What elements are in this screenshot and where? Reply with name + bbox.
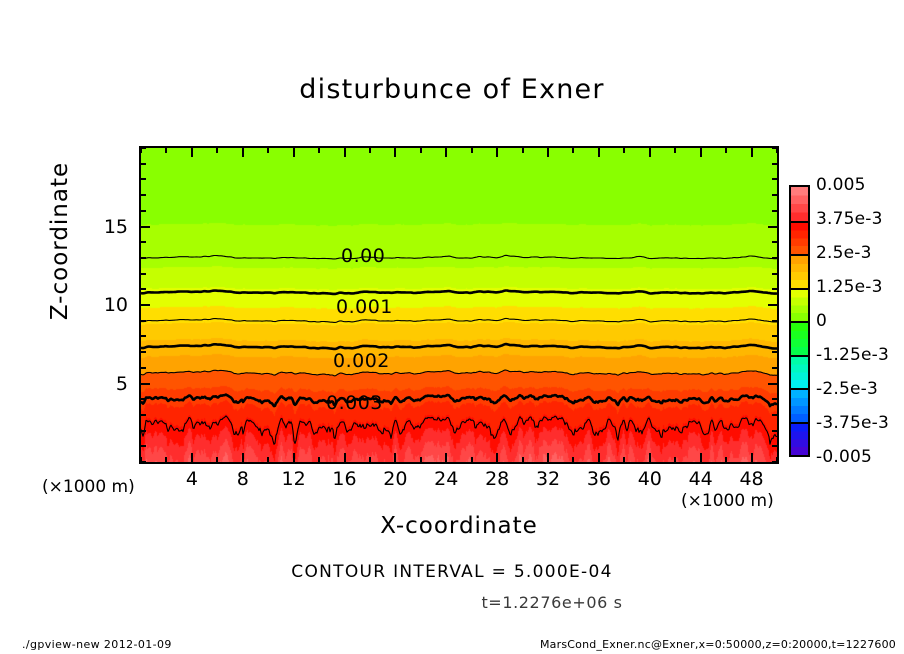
axis-tick (772, 398, 777, 400)
colorbar-tick-label: -1.25e-3 (816, 345, 889, 365)
axis-tick (522, 457, 524, 462)
axis-tick (700, 453, 702, 462)
axis-tick (216, 457, 218, 462)
axis-tick (772, 335, 777, 337)
contour-interval-note: CONTOUR INTERVAL = 5.000E-04 (0, 562, 904, 582)
plot-canvas: disturbunce of Exner 4812162024283236404… (0, 0, 904, 654)
axis-tick (772, 147, 777, 149)
axis-tick (141, 383, 150, 385)
axis-tick (369, 148, 371, 153)
axis-tick (267, 457, 269, 462)
axis-tick (768, 383, 777, 385)
colorbar-band (791, 321, 808, 355)
axis-tick (141, 320, 146, 322)
axis-tick (700, 148, 702, 157)
plot-area (139, 146, 779, 464)
axis-tick (141, 414, 146, 416)
y-tick-label: 10 (88, 294, 128, 316)
x-tick-label: 24 (421, 468, 471, 490)
axis-tick (547, 453, 549, 462)
axis-tick (141, 241, 146, 243)
colorbar-band (791, 254, 808, 288)
axis-tick (725, 148, 727, 153)
axis-tick (649, 453, 651, 462)
axis-tick (141, 445, 146, 447)
axis-tick (547, 148, 549, 157)
axis-tick (496, 148, 498, 157)
axis-tick (768, 304, 777, 306)
axis-tick (191, 148, 193, 157)
axis-tick (141, 351, 146, 353)
axis-tick (572, 148, 574, 153)
axis-tick (751, 148, 753, 157)
contour-line (141, 395, 777, 407)
axis-tick (772, 273, 777, 275)
axis-tick (623, 457, 625, 462)
colorbar-tick-label: -3.75e-3 (816, 413, 889, 433)
x-tick-label: 20 (370, 468, 420, 490)
colorbar-band (791, 422, 808, 456)
y-axis-title: Z-coordinate (47, 141, 73, 341)
axis-tick (141, 304, 150, 306)
contour-line (141, 370, 777, 376)
axis-tick (445, 148, 447, 157)
colorbar-tick-label: -2.5e-3 (816, 379, 878, 399)
axis-tick (293, 453, 295, 462)
x-tick-label: 8 (218, 468, 268, 490)
axis-tick (267, 148, 269, 153)
axis-tick (772, 241, 777, 243)
axis-tick (598, 148, 600, 157)
axis-tick (141, 273, 146, 275)
x-tick-label: 12 (269, 468, 319, 490)
axis-tick (751, 453, 753, 462)
axis-tick (344, 148, 346, 157)
x-axis-unit-right: (×1000 m) (681, 491, 774, 511)
colorbar-band (791, 388, 808, 422)
axis-tick (772, 351, 777, 353)
colorbar-tick-label: -0.005 (816, 447, 872, 467)
colorbar (789, 185, 810, 457)
axis-tick (768, 226, 777, 228)
axis-tick (394, 148, 396, 157)
contour-line (141, 318, 777, 322)
x-tick-label: 28 (472, 468, 522, 490)
axis-tick (293, 148, 295, 157)
axis-tick (141, 430, 146, 432)
axis-tick (772, 288, 777, 290)
contour-line (141, 416, 777, 444)
contour-line (141, 291, 777, 294)
axis-tick (471, 457, 473, 462)
colorbar-band (791, 221, 808, 255)
contour-line (141, 344, 777, 349)
timestamp-annotation: t=1.2276e+06 s (0, 593, 904, 612)
x-tick-label: 36 (574, 468, 624, 490)
colorbar-tick-label: 1.25e-3 (816, 277, 883, 297)
axis-tick (725, 457, 727, 462)
y-tick-label: 5 (88, 373, 128, 395)
axis-tick (141, 367, 146, 369)
y-tick-label: 15 (88, 216, 128, 238)
axis-tick (369, 457, 371, 462)
axis-tick (216, 148, 218, 153)
footer-source: MarsCond_Exner.nc@Exner,x=0:50000,z=0:20… (540, 638, 896, 651)
axis-tick (772, 367, 777, 369)
footer-command: ./gpview-new 2012-01-09 (22, 638, 172, 651)
axis-tick (496, 453, 498, 462)
axis-tick (141, 288, 146, 290)
axis-tick (318, 457, 320, 462)
axis-tick (649, 148, 651, 157)
axis-tick (318, 148, 320, 153)
axis-tick (772, 320, 777, 322)
axis-tick (141, 178, 146, 180)
axis-tick (165, 148, 167, 153)
axis-tick (522, 148, 524, 153)
page-title: disturbunce of Exner (0, 74, 904, 105)
x-tick-label: 16 (320, 468, 370, 490)
x-axis-title: X-coordinate (139, 513, 779, 539)
axis-tick (598, 453, 600, 462)
axis-tick (772, 163, 777, 165)
contour-line (141, 255, 777, 259)
axis-tick (141, 461, 146, 463)
axis-tick (623, 148, 625, 153)
axis-tick (141, 194, 146, 196)
axis-tick (674, 457, 676, 462)
contour-label: 0.002 (333, 350, 390, 372)
axis-tick (772, 430, 777, 432)
axis-tick (772, 194, 777, 196)
contour-label: 0.003 (326, 392, 383, 414)
x-tick-label: 32 (523, 468, 573, 490)
x-tick-label: 4 (167, 468, 217, 490)
axis-tick (394, 453, 396, 462)
axis-tick (674, 148, 676, 153)
colorbar-tick-label: 0.005 (816, 175, 866, 195)
x-tick-label: 48 (727, 468, 777, 490)
axis-tick (141, 335, 146, 337)
colorbar-band (791, 355, 808, 389)
axis-tick (191, 453, 193, 462)
axis-tick (344, 453, 346, 462)
axis-tick (772, 210, 777, 212)
axis-tick (772, 414, 777, 416)
axis-tick (141, 257, 146, 259)
colorbar-tick-label: 2.5e-3 (816, 243, 872, 263)
x-tick-label: 44 (676, 468, 726, 490)
axis-tick (242, 148, 244, 157)
colorbar-band (791, 288, 808, 322)
axis-tick (772, 178, 777, 180)
axis-tick (242, 453, 244, 462)
axis-tick (772, 257, 777, 259)
axis-tick (420, 148, 422, 153)
axis-tick (141, 398, 146, 400)
axis-tick (141, 210, 146, 212)
x-tick-label: 40 (625, 468, 675, 490)
axis-tick (141, 147, 146, 149)
axis-tick (772, 461, 777, 463)
axis-tick (471, 148, 473, 153)
colorbar-tick-label: 0 (816, 311, 827, 331)
colorbar-band (791, 187, 808, 221)
contour-lines (141, 148, 777, 462)
axis-tick (165, 457, 167, 462)
axis-tick (572, 457, 574, 462)
contour-label: 0.00 (341, 245, 385, 267)
axis-tick (420, 457, 422, 462)
x-axis-unit-left: (×1000 m) (42, 477, 135, 497)
axis-tick (141, 163, 146, 165)
axis-tick (445, 453, 447, 462)
contour-label: 0.001 (336, 296, 393, 318)
axis-tick (141, 226, 150, 228)
axis-tick (772, 445, 777, 447)
colorbar-tick-label: 3.75e-3 (816, 209, 883, 229)
